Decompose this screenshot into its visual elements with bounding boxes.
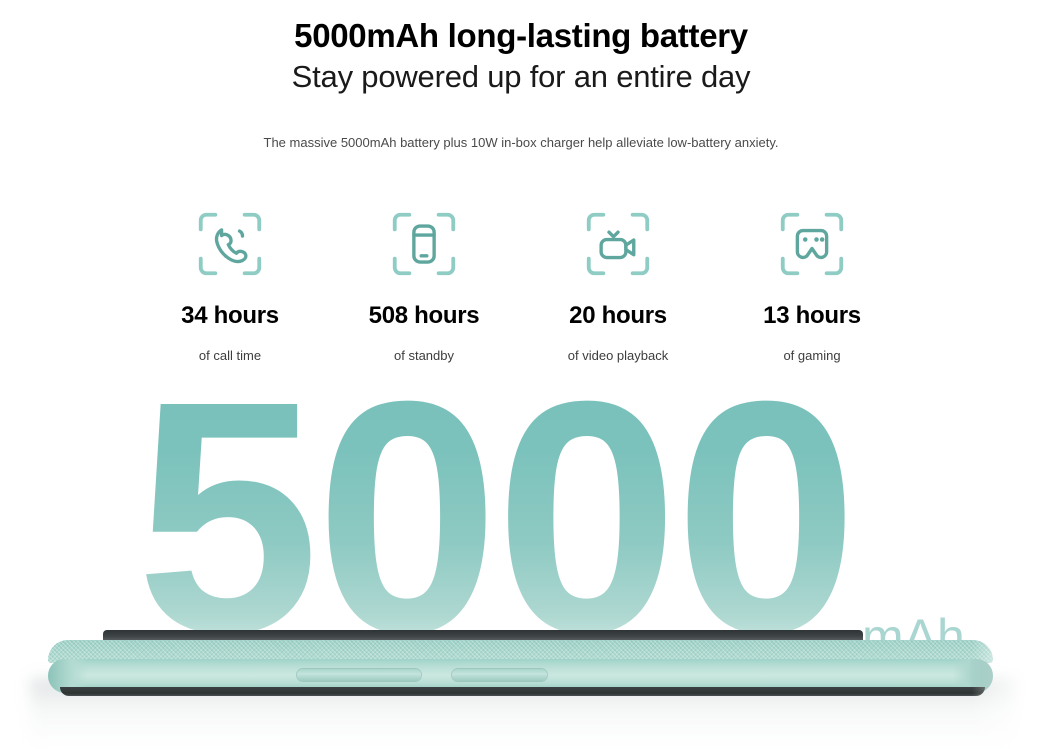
stat-value: 20 hours bbox=[569, 302, 667, 330]
phone-power-button bbox=[452, 669, 547, 681]
battery-stats-row: 34 hours of call time 508 hours of stan bbox=[133, 208, 909, 363]
stat-label: of standby bbox=[394, 348, 454, 363]
phone-volume-button bbox=[297, 669, 421, 681]
stat-item-gaming: 13 hours of gaming bbox=[715, 208, 909, 363]
stat-value: 508 hours bbox=[369, 302, 480, 330]
hero-heading-block: 5000mAh long-lasting battery Stay powere… bbox=[0, 16, 1042, 98]
product-image-stage bbox=[0, 612, 1042, 749]
stat-item-call-time: 34 hours of call time bbox=[133, 208, 327, 363]
gamepad-icon bbox=[776, 208, 848, 280]
stat-value: 13 hours bbox=[763, 302, 861, 330]
smartphone-standby-icon bbox=[388, 208, 460, 280]
phone-call-icon bbox=[194, 208, 266, 280]
page-title: 5000mAh long-lasting battery bbox=[0, 16, 1042, 56]
phone-side-profile bbox=[48, 640, 993, 695]
stat-value: 34 hours bbox=[181, 302, 279, 330]
video-camera-icon bbox=[582, 208, 654, 280]
stat-label: of video playback bbox=[568, 348, 668, 363]
edge-fade bbox=[972, 612, 1042, 749]
hero-description: The massive 5000mAh battery plus 10W in-… bbox=[0, 134, 1042, 152]
stat-label: of gaming bbox=[783, 348, 840, 363]
phone-bottom-lip bbox=[60, 687, 985, 696]
stat-item-video-playback: 20 hours of video playback bbox=[521, 208, 715, 363]
stat-label: of call time bbox=[199, 348, 261, 363]
phone-screen-edge bbox=[103, 630, 863, 640]
page-subtitle: Stay powered up for an entire day bbox=[0, 56, 1042, 98]
stat-item-standby: 508 hours of standby bbox=[327, 208, 521, 363]
battery-feature-page: 5000mAh long-lasting battery Stay powere… bbox=[0, 0, 1042, 749]
